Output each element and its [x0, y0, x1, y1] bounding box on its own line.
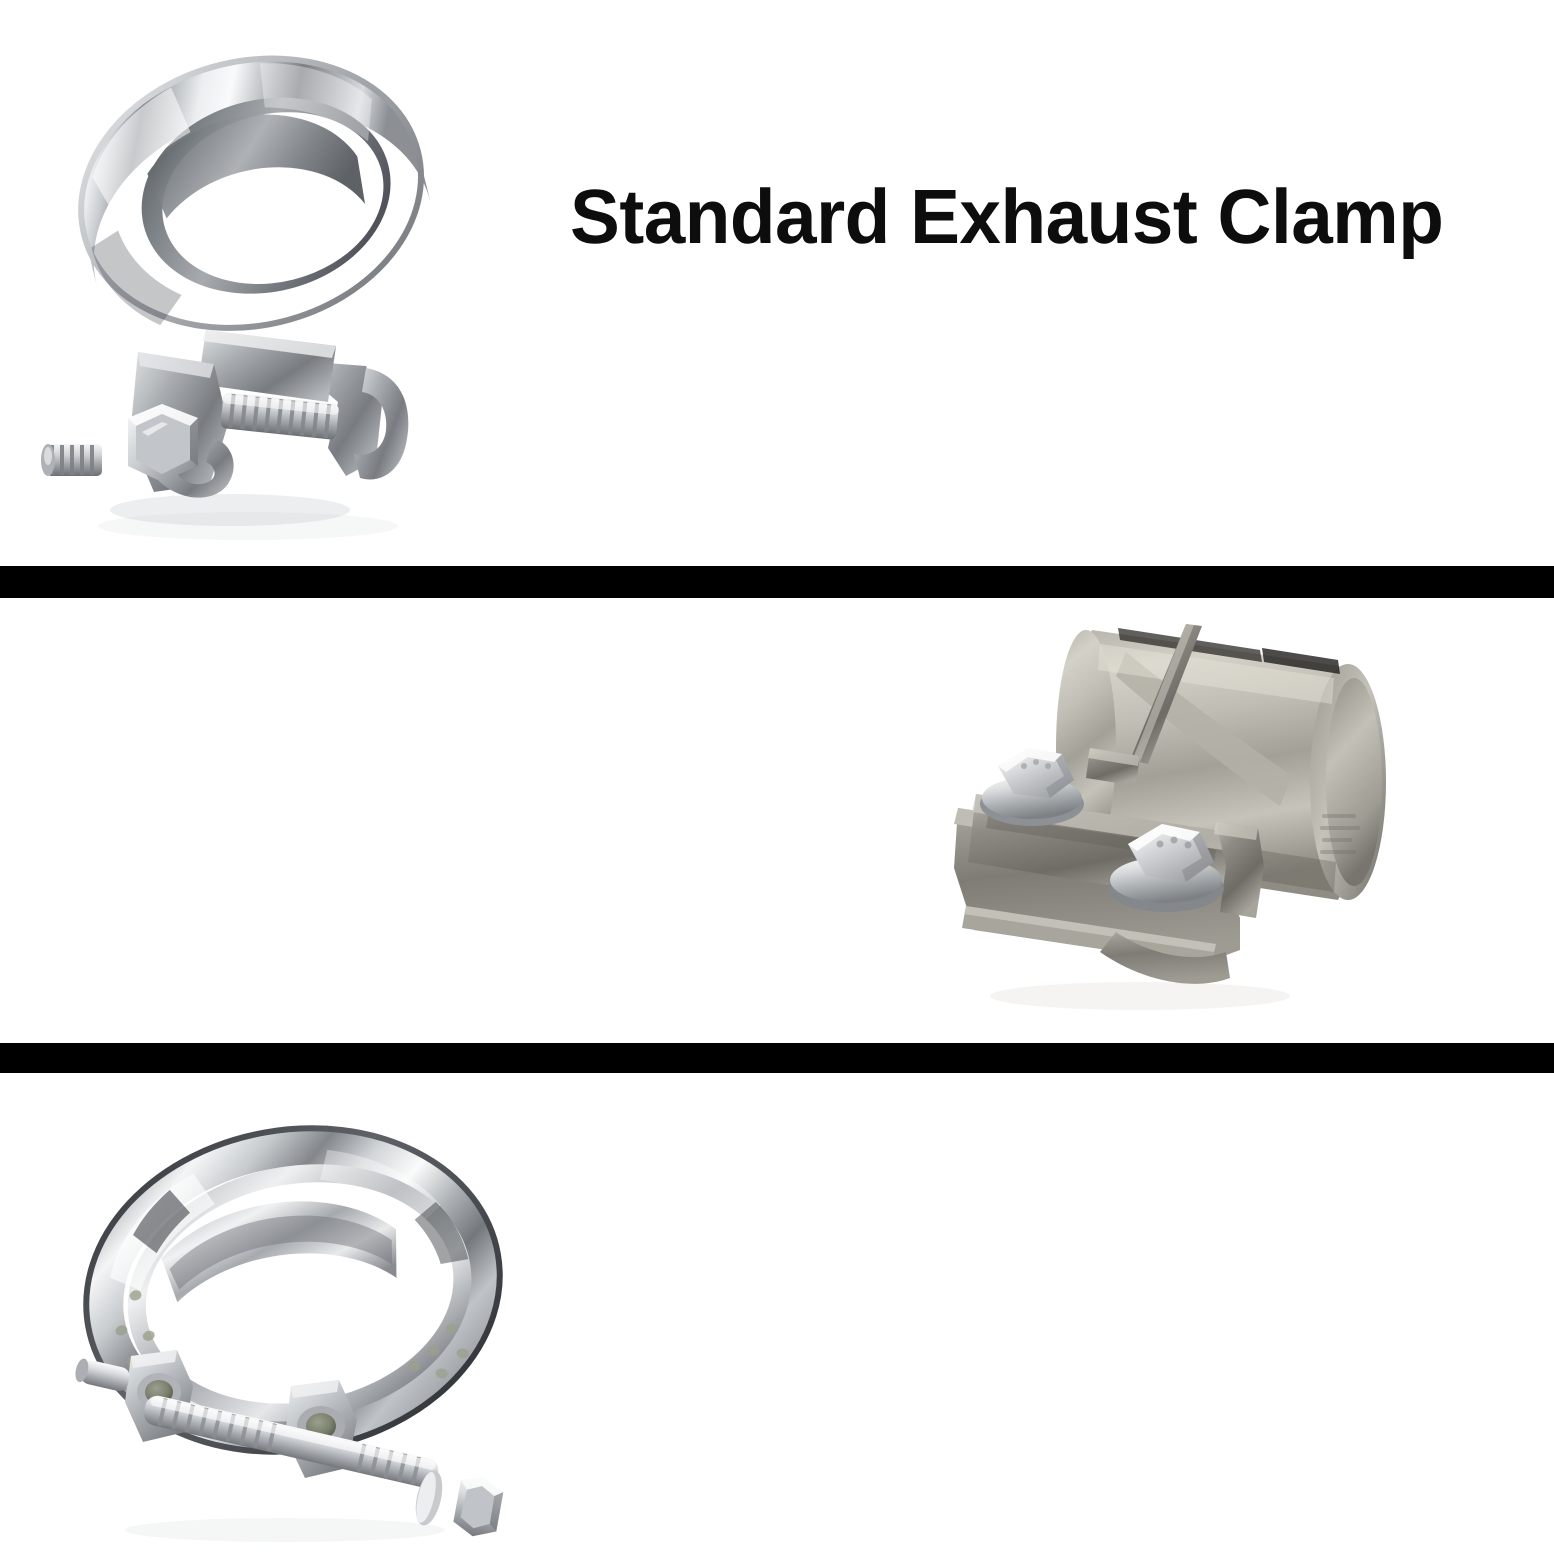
product-comparison-infographic: Standard Exhaust Clamp Lap Joint Exhaust…: [0, 0, 1554, 1558]
page-title-standard-exhaust-clamp: Standard Exhaust Clamp: [570, 172, 1433, 262]
panel-divider-2: [0, 1043, 1554, 1073]
v-band-clamp-photo: [45, 1078, 545, 1548]
panel-divider-1: [0, 566, 1554, 598]
standard-exhaust-clamp-photo: [18, 6, 488, 551]
lap-joint-band-clamp-photo: [940, 600, 1430, 1040]
panel-standard-exhaust-clamp: Standard Exhaust Clamp: [0, 0, 1554, 566]
